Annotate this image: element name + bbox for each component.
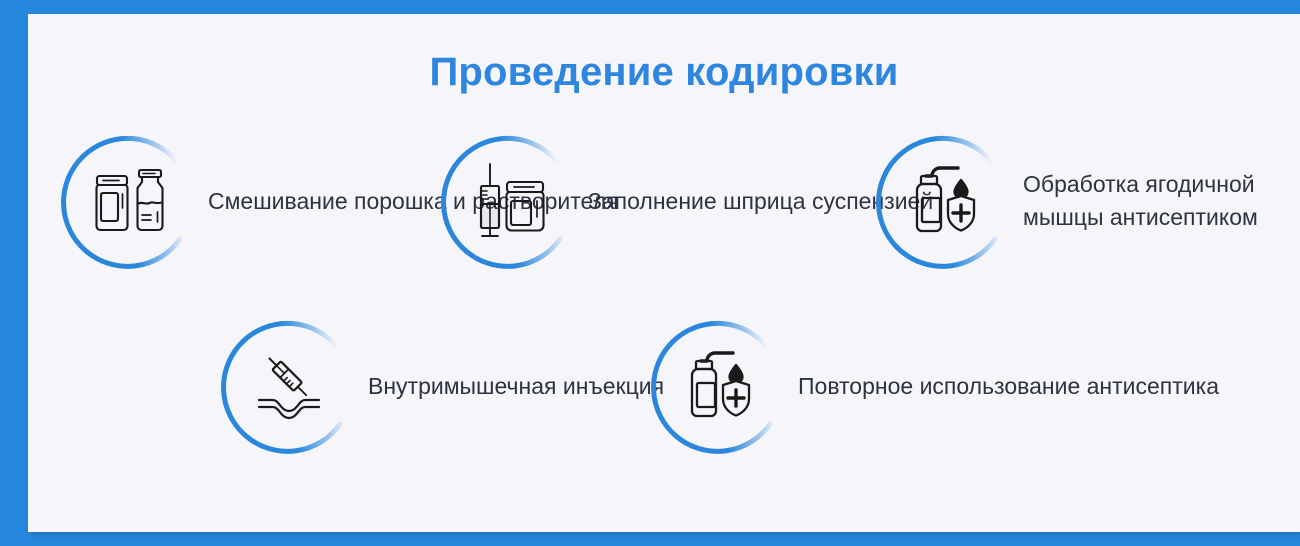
syringe-and-vial-icon [467,158,553,244]
step-4-label: Внутримышечная инъекция [368,370,664,403]
page-title: Проведение кодировки [28,50,1300,95]
step-5-label: Повторное использование антисептика [798,370,1219,403]
antiseptic-bottle-shield-icon [677,343,763,429]
step-item-4: Внутримышечная инъекция [218,314,664,458]
step-item-5: Повторное использование антисептика [648,314,1219,458]
step-item-2: Заполнение шприца суспензией [438,129,933,273]
step-2-circle [438,129,582,273]
step-item-3: Обработка ягодичной мышцы антисептиком [873,129,1300,273]
two-vials-icon [87,158,173,244]
content-panel: Проведение кодировки [28,14,1300,532]
step-1-circle [58,129,202,273]
step-3-circle [873,129,1017,273]
step-3-label: Обработка ягодичной мышцы антисептиком [1023,168,1300,233]
antiseptic-bottle-shield-icon [902,158,988,244]
infographic-frame: Проведение кодировки [0,0,1300,546]
step-5-circle [648,314,792,458]
intramuscular-injection-icon [247,343,333,429]
step-4-circle [218,314,362,458]
